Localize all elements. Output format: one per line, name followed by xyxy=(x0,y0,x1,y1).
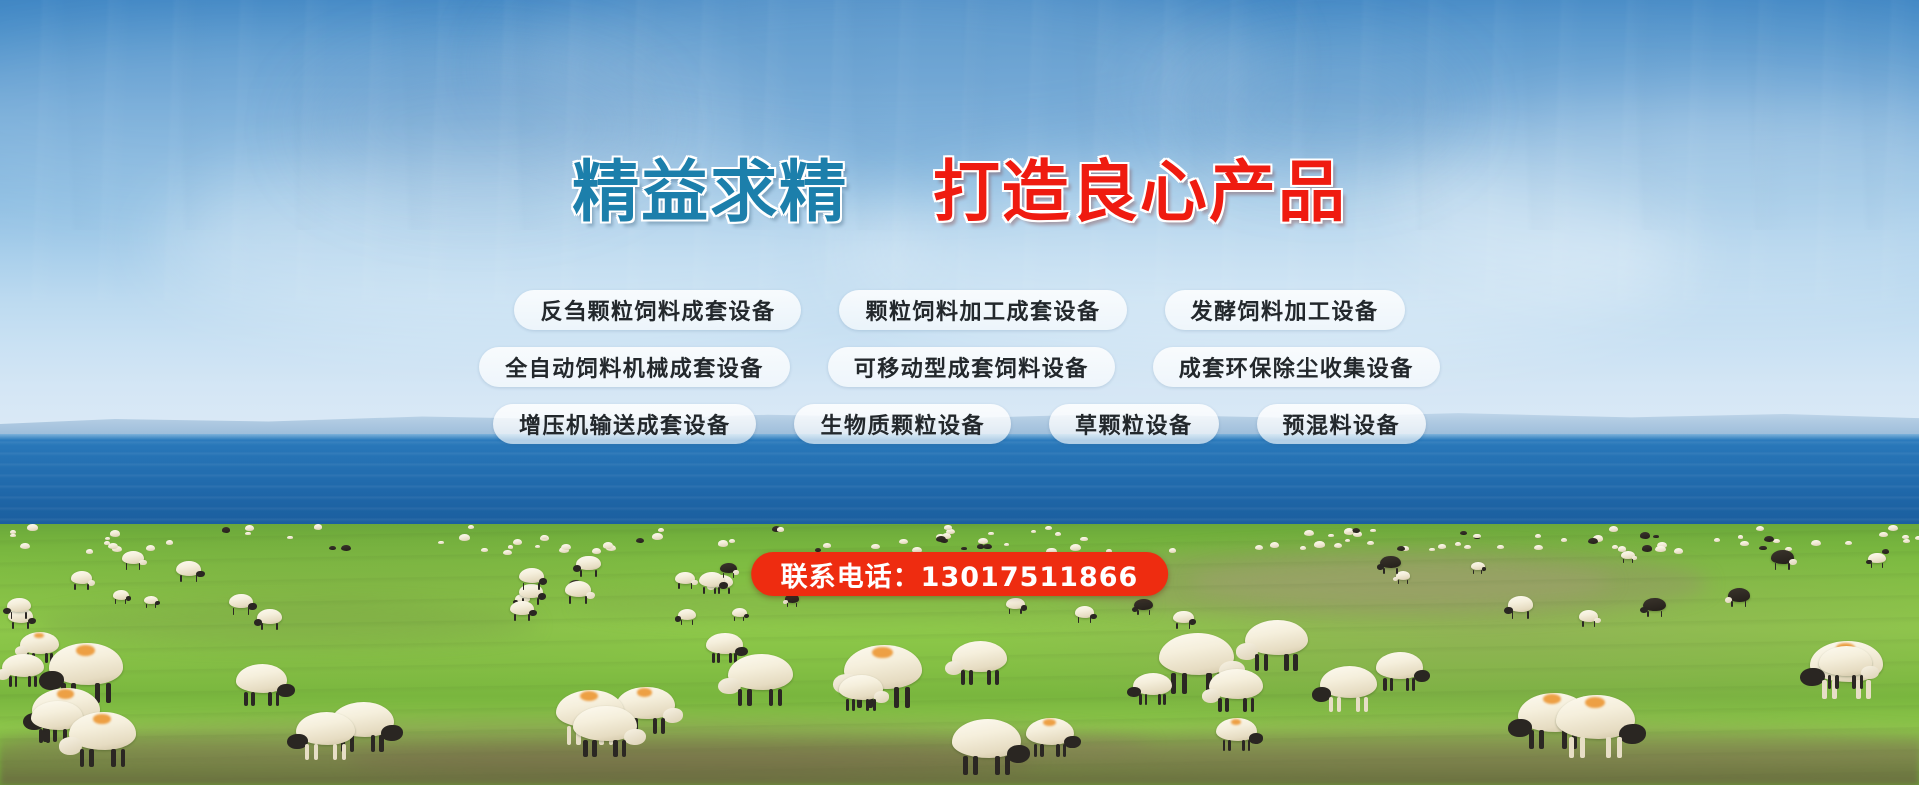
sheep xyxy=(503,550,512,556)
product-category-pill[interactable]: 生物质颗粒设备 xyxy=(794,404,1011,444)
product-category-pill[interactable]: 颗粒饲料加工成套设备 xyxy=(839,290,1126,330)
sheep xyxy=(108,543,118,549)
sheep xyxy=(1397,546,1405,551)
hero-banner: 精益求精 打造良心产品 反刍颗粒饲料成套设备颗粒饲料加工成套设备发酵饲料加工设备… xyxy=(0,0,1919,785)
sheep xyxy=(166,540,173,545)
sheep xyxy=(341,545,351,551)
sheep xyxy=(245,525,254,531)
sheep xyxy=(2,654,44,677)
sheep xyxy=(1508,596,1534,611)
sheep xyxy=(508,545,513,548)
sheep xyxy=(1714,538,1720,542)
sheep xyxy=(576,556,601,571)
sheep xyxy=(1588,538,1598,544)
sheep xyxy=(603,542,613,548)
sheep xyxy=(1653,535,1658,538)
sheep xyxy=(636,538,644,543)
sheep xyxy=(823,543,830,548)
sheep xyxy=(510,601,533,615)
sheep xyxy=(459,534,470,541)
sheep xyxy=(1055,532,1061,536)
sheep xyxy=(1738,535,1743,538)
sheep xyxy=(1771,550,1793,563)
sheep xyxy=(1328,534,1334,538)
sheep xyxy=(105,537,110,540)
sheep xyxy=(146,545,156,551)
sheep xyxy=(329,546,336,550)
sheep xyxy=(113,590,129,600)
sheep xyxy=(1216,718,1257,741)
sheep xyxy=(1728,588,1750,601)
sheep xyxy=(27,524,38,531)
sheep xyxy=(699,572,725,587)
sheep xyxy=(952,641,1007,672)
sheep xyxy=(1304,530,1314,536)
sheep xyxy=(839,675,883,700)
sheep xyxy=(1320,666,1377,698)
sheep xyxy=(871,544,879,549)
sheep xyxy=(1031,530,1036,533)
sheep xyxy=(1004,543,1009,546)
sheep xyxy=(1845,541,1851,545)
product-category-row: 全自动饲料机械成套设备可移动型成套饲料设备成套环保除尘收集设备 xyxy=(479,347,1440,387)
sheep xyxy=(236,664,288,693)
sheep xyxy=(245,532,251,536)
sheep xyxy=(1535,534,1541,538)
sheep xyxy=(438,541,444,545)
sheep xyxy=(1245,620,1308,655)
sheep xyxy=(1473,534,1481,539)
sheep xyxy=(229,594,253,609)
sheep xyxy=(1655,546,1666,553)
sheep xyxy=(1811,540,1821,546)
sheep xyxy=(1915,536,1919,540)
sheep xyxy=(652,533,663,540)
product-category-pill[interactable]: 全自动饲料机械成套设备 xyxy=(479,347,790,387)
sheep xyxy=(573,706,636,742)
sheep xyxy=(1879,532,1888,537)
sheep xyxy=(10,530,17,534)
sheep xyxy=(49,643,122,684)
sheep xyxy=(1759,546,1767,551)
page-title: 精益求精 打造良心产品 xyxy=(0,138,1919,235)
sheep xyxy=(718,540,729,547)
sheep xyxy=(1075,606,1094,618)
product-category-row: 反刍颗粒饲料成套设备颗粒饲料加工成套设备发酵饲料加工设备 xyxy=(514,290,1404,330)
sheep xyxy=(1080,537,1087,542)
sheep xyxy=(222,527,230,532)
sheep xyxy=(1868,553,1886,564)
sheep xyxy=(899,539,907,544)
sheep xyxy=(706,633,742,653)
sheep xyxy=(1367,541,1374,546)
sheep xyxy=(983,544,992,550)
sheep xyxy=(1819,646,1872,676)
sheep xyxy=(936,536,946,542)
sheep xyxy=(1429,548,1434,551)
sheep xyxy=(1740,541,1749,546)
sheep xyxy=(1169,548,1176,553)
headline-red-text: 打造良心产品 xyxy=(933,153,1347,231)
sheep xyxy=(535,545,540,548)
sheep xyxy=(1756,526,1765,531)
sheep xyxy=(565,581,591,597)
sheep xyxy=(1438,544,1445,549)
lake-shimmer xyxy=(0,434,1919,529)
product-category-pill[interactable]: 成套环保除尘收集设备 xyxy=(1153,347,1440,387)
sheep xyxy=(1070,544,1081,551)
product-category-pill[interactable]: 可移动型成套饲料设备 xyxy=(828,347,1115,387)
sheep xyxy=(1006,598,1025,609)
sheep xyxy=(561,544,571,550)
sheep xyxy=(110,530,120,536)
product-category-list: 反刍颗粒饲料成套设备颗粒饲料加工成套设备发酵饲料加工设备全自动饲料机械成套设备可… xyxy=(0,290,1919,444)
sheep xyxy=(1579,610,1598,622)
sheep xyxy=(1609,526,1618,532)
sheep xyxy=(1300,546,1306,550)
sheep xyxy=(728,654,793,690)
sheep xyxy=(1396,571,1411,580)
sheep xyxy=(1255,545,1263,550)
product-category-pill[interactable]: 反刍颗粒饲料成套设备 xyxy=(514,290,801,330)
sheep xyxy=(675,572,695,584)
sheep xyxy=(777,527,784,531)
sheep xyxy=(1674,548,1684,554)
sheep xyxy=(176,561,201,576)
sheep xyxy=(1643,598,1666,612)
sheep xyxy=(961,547,967,551)
sheep xyxy=(1133,673,1173,695)
sheep xyxy=(541,535,547,539)
sheep xyxy=(1455,542,1461,546)
sheep xyxy=(1888,525,1898,531)
sheep xyxy=(729,539,735,543)
sheep xyxy=(1376,652,1423,679)
sheep xyxy=(732,608,747,617)
sheep xyxy=(1534,545,1542,550)
sheep xyxy=(1134,599,1153,610)
sheep xyxy=(1352,528,1360,533)
sheep xyxy=(1334,543,1342,548)
sheep xyxy=(1209,669,1262,699)
sheep xyxy=(7,598,31,612)
sheep xyxy=(1773,539,1780,543)
sheep xyxy=(1903,539,1910,543)
sheep xyxy=(1621,551,1635,559)
sheep xyxy=(287,536,293,540)
sheep xyxy=(1370,529,1375,532)
sheep xyxy=(519,568,544,583)
product-category-row: 增压机输送成套设备生物质颗粒设备草颗粒设备预混料设备 xyxy=(493,404,1426,444)
sheep xyxy=(122,551,143,564)
sheep xyxy=(1471,562,1485,570)
sheep xyxy=(944,525,951,530)
sheep xyxy=(468,525,474,529)
sheep xyxy=(1556,695,1634,739)
sheep xyxy=(1347,530,1353,534)
product-category-pill[interactable]: 增压机输送成套设备 xyxy=(493,404,757,444)
sheep xyxy=(86,549,93,554)
sheep xyxy=(1464,545,1471,549)
sheep xyxy=(1045,526,1053,531)
sheep xyxy=(257,609,282,624)
sheep xyxy=(314,524,323,529)
sheep xyxy=(1764,536,1774,542)
headline-blue-text: 精益求精 xyxy=(572,153,848,231)
product-category-pill[interactable]: 预混料设备 xyxy=(1257,404,1427,444)
sheep xyxy=(1460,531,1467,535)
sheep xyxy=(678,609,696,620)
sheep xyxy=(69,712,136,750)
sheep xyxy=(71,571,93,584)
sheep xyxy=(481,548,487,552)
product-category-pill[interactable]: 草颗粒设备 xyxy=(1049,404,1219,444)
sheep xyxy=(296,712,356,745)
sheep xyxy=(20,543,30,549)
sheep xyxy=(1270,542,1280,548)
product-category-pill[interactable]: 发酵饲料加工设备 xyxy=(1165,290,1405,330)
sheep xyxy=(1026,718,1074,745)
sheep xyxy=(952,719,1021,757)
sheep xyxy=(1314,541,1325,548)
sheep xyxy=(988,532,994,536)
sheep xyxy=(1642,545,1652,551)
sheep xyxy=(658,528,664,532)
sheep xyxy=(1380,556,1401,568)
sheep xyxy=(1497,545,1503,549)
sheep xyxy=(1173,611,1194,623)
sheep xyxy=(513,539,522,545)
sheep xyxy=(1561,538,1567,542)
contact-phone-badge[interactable]: 联系电话：13017511866 xyxy=(751,552,1169,596)
sheep xyxy=(1345,539,1350,542)
sheep xyxy=(144,596,158,605)
sheep xyxy=(592,548,602,554)
sheep xyxy=(1640,532,1650,538)
